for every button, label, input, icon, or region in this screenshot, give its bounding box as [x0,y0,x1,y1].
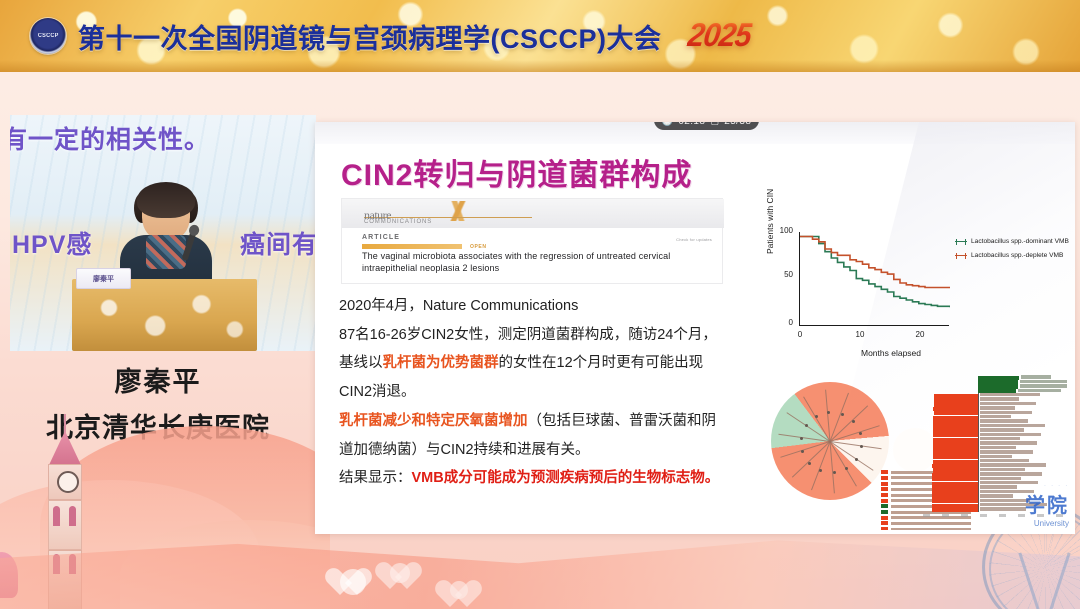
body-line: 基线以乳杆菌为优势菌群的女性在12个月时更有可能出现 [339,349,769,378]
cladogram-legend-label [891,528,971,530]
km-curves-svg [800,232,950,326]
body-text-segment: 乳杆菌减少和特定厌氧菌增加 [339,413,528,429]
nature-logo-graphic [368,201,548,221]
speaker-nameplate-label: 廖秦平 [93,274,114,284]
cladogram-node [833,471,836,474]
cladogram-node [859,432,862,435]
presentation-slide[interactable]: 🕐 02:18 ▢ 25/38 CIN2转归与阴道菌群构成 nature COM… [315,122,1075,534]
body-text-segment: VMB成分可能成为预测疾病预后的生物标志物。 [412,470,720,486]
csccp-logo-icon: CSCCP [30,18,66,54]
projected-text-line-2: HPV感 [12,225,92,261]
lda-bar-label [980,450,1033,453]
cladogram-chart [771,382,889,500]
lefse-figure [763,370,1067,530]
lda-bar-label [1018,389,1061,392]
lda-bar-label [980,402,1036,405]
lda-tick [999,514,1006,517]
cladogram-legend-swatch [881,476,888,480]
cladogram-legend-swatch [881,510,888,514]
article-type-label: ARTICLE [362,234,400,241]
body-text-segment: 乳杆菌为优势菌群 [383,355,499,371]
km-legend-label: Lactobacillus spp.-dominant VMB [971,238,1069,245]
page-icon: ▢ [710,122,719,127]
lda-bar-label [980,446,1016,449]
lda-bar-label [980,499,1030,502]
km-x-tick: 10 [852,330,868,339]
cladogram-legend-swatch [881,521,888,525]
article-screenshot: nature COMMUNICATIONS ARTICLE OPEN Check… [341,198,723,284]
conference-title: 第十一次全国阴道镜与宫颈病理学(CSCCP)大会 [78,17,662,56]
km-y-tick: 0 [773,318,793,327]
tower-clock-face [48,464,82,500]
lda-bar-label [980,411,1032,414]
lda-bar-label [980,441,1037,444]
cladogram-legend-swatch [881,470,888,474]
article-open-access-label: OPEN [470,244,487,250]
tower-window [53,506,60,526]
body-text-segment: 道加德纳菌）与CIN2持续和进展有关。 [339,442,590,458]
lda-bar-label [980,415,1011,418]
lda-bar-label [980,437,1020,440]
lda-bar-label [980,477,1021,480]
lda-tick [1018,514,1025,517]
km-y-tick: 100 [773,226,793,235]
cladogram-node [860,445,863,448]
elapsed-time: 02:18 [678,122,705,127]
watermark-en: University [1025,519,1069,528]
projected-text-line-3: 癌间有 [240,225,316,261]
lda-bar-label [980,397,1019,400]
cladogram-node [827,411,830,414]
lda-bar-label [980,468,1025,471]
km-y-tick: 50 [773,270,793,279]
lda-bar-label [1020,380,1067,383]
body-text-segment: 2020年4月，Nature Communications [339,298,578,314]
cladogram-branch [830,393,849,442]
km-legend-swatch [955,241,967,242]
slide-title: CIN2转归与阴道菌群构成 [341,150,692,194]
lda-bar-label [1020,384,1067,387]
cladogram-legend-swatch [881,516,888,520]
body-line: 道加德纳菌）与CIN2持续和进展有关。 [339,436,769,465]
tower-roof [49,431,81,465]
cladogram-node [808,462,811,465]
speaker-name: 廖秦平 [0,360,316,399]
km-x-tick: 20 [912,330,928,339]
lda-bar-label [980,433,1041,436]
lda-bar-label [980,419,1028,422]
lda-bar-label [980,507,1026,510]
webinar-screen: CSCCP 第十一次全国阴道镜与宫颈病理学(CSCCP)大会 2025 有一定的… [0,0,1080,609]
lda-bar [932,508,978,512]
km-survival-chart: Patients with CIN 100 50 0 0 10 20 Month… [767,230,1067,360]
lda-tick [923,514,930,517]
podium [72,279,257,351]
decoration-hearts [300,551,660,601]
speaker-hair [137,182,195,218]
lda-bar-label [980,406,1015,409]
cladogram-node [801,450,804,453]
watermark-cn: 学院 [1025,489,1069,518]
body-text-segment: 的女性在12个月时更有可能出现 [499,355,704,371]
km-plot-area [799,232,949,326]
university-watermark: · · · · 学院 University [1025,483,1069,528]
km-legend-label: Lactobacillus spp.-deplete VMB [971,252,1063,259]
journal-subtitle: COMMUNICATIONS [364,219,432,225]
heart-icon [390,563,410,583]
heart-icon [450,581,468,599]
cladogram-node [815,415,818,418]
cladogram-node [841,413,844,416]
lda-bar-label [980,494,1013,497]
projected-text-line-1: 有一定的相关性。 [10,120,210,156]
body-line: 结果显示：VMB成分可能成为预测疾病预后的生物标志物。 [339,464,769,493]
banner-content: CSCCP 第十一次全国阴道镜与宫颈病理学(CSCCP)大会 2025 [30,0,750,72]
lda-bar-label [980,424,1045,427]
timer-badge: 🕐 02:18 ▢ 25/38 [654,122,759,130]
cladogram-node [800,437,803,440]
body-text-segment: CIN2消退。 [339,384,416,400]
km-legend-item: Lactobacillus spp.-deplete VMB [955,252,1073,259]
cladogram-legend-swatch [881,482,888,486]
cladogram-legend-swatch [881,504,888,508]
lda-bar-label [980,428,1024,431]
km-y-axis-label: Patients with CIN [765,188,775,254]
lda-bar-label [980,459,1029,462]
km-x-tick: 0 [792,330,808,339]
lda-bar-label [980,455,1012,458]
speaker-nameplate: 廖秦平 [76,268,131,289]
slide-body-text: 2020年4月，Nature Communications87名16-26岁CI… [339,292,769,493]
cladogram-node [845,467,848,470]
km-legend-item: Lactobacillus spp.-dominant VMB [955,238,1073,245]
cladogram-legend-swatch [881,493,888,497]
heart-icon [340,569,366,595]
body-line: CIN2消退。 [339,378,769,407]
article-title: The vaginal microbiota associates with t… [362,251,682,275]
lda-tick [942,514,949,517]
cladogram-legend-swatch [881,499,888,503]
speaker-scarf [146,235,186,269]
body-line: 2020年4月，Nature Communications [339,292,769,321]
body-text-segment: 基线以 [339,355,383,371]
km-x-axis-label: Months elapsed [831,348,951,358]
lda-bar-label [980,485,1017,488]
lda-tick [980,514,987,517]
lda-bar-label [980,393,1040,396]
conference-year-logo: 2025 [685,17,753,54]
body-text-segment: （包括巨球菌、普雷沃菌和阴 [528,413,717,429]
tower-window [69,506,76,526]
cladogram-node [852,420,855,423]
body-line: 乳杆菌减少和特定厌氧菌增加（包括巨球菌、普雷沃菌和阴 [339,407,769,436]
conference-banner: CSCCP 第十一次全国阴道镜与宫颈病理学(CSCCP)大会 2025 [0,0,1080,72]
cladogram-branch [780,441,830,458]
lda-tick [961,514,968,517]
lda-bar-label [980,463,1046,466]
lda-bar-label [980,472,1042,475]
lda-bar-label [1021,375,1051,378]
cladogram-legend-swatch [881,487,888,491]
cladogram-node [855,458,858,461]
body-text-segment: 结果显示： [339,470,412,486]
speaker-video-feed[interactable]: 有一定的相关性。 HPV感 癌间有 廖秦平 [10,115,316,351]
body-text-segment: 87名16-26岁CIN2女性，测定阴道菌群构成，随访24个月， [339,327,717,343]
body-line: 87名16-26岁CIN2女性，测定阴道菌群构成，随访24个月， [339,321,769,350]
cladogram-node [819,469,822,472]
cladogram-legend-swatch [881,527,888,530]
csccp-logo-label: CSCCP [38,33,59,39]
journal-header: nature COMMUNICATIONS [342,199,724,228]
page-indicator: 25/38 [724,122,751,127]
km-legend-swatch [955,255,967,256]
clock-icon: 🕐 [662,122,674,127]
article-check-updates-label: Check for updates [676,237,712,242]
article-doi-bar [362,244,462,249]
km-legend: Lactobacillus spp.-dominant VMB Lactobac… [955,238,1073,266]
cladogram-legend-item [881,527,971,530]
